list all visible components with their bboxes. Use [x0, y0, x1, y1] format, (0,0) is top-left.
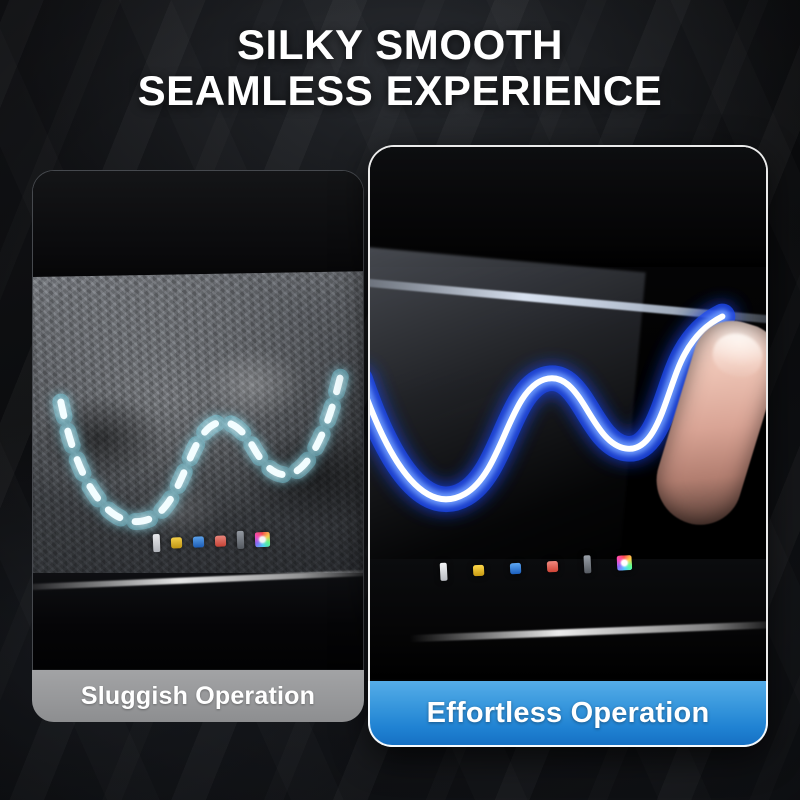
sluggish-scene	[33, 171, 363, 669]
page-title: SILKY SMOOTH SEAMLESS EXPERIENCE	[0, 22, 800, 114]
effortless-screenshot	[370, 147, 766, 679]
sluggish-swipe-trail	[33, 171, 363, 669]
trail-glow-layer	[61, 366, 343, 521]
headline-line-2: SEAMLESS EXPERIENCE	[0, 68, 800, 114]
sluggish-trail-svg	[33, 171, 363, 669]
caption-effortless: Effortless Operation	[368, 681, 768, 747]
headline-line-1: SILKY SMOOTH	[237, 21, 563, 68]
panel-sluggish	[32, 170, 364, 722]
sluggish-screenshot	[33, 171, 363, 669]
panel-effortless	[368, 145, 768, 747]
effortless-scene	[370, 147, 766, 679]
promo-poster: SILKY SMOOTH SEAMLESS EXPERIENCE	[0, 0, 800, 800]
fingernail	[708, 328, 766, 383]
caption-sluggish: Sluggish Operation	[32, 670, 364, 722]
